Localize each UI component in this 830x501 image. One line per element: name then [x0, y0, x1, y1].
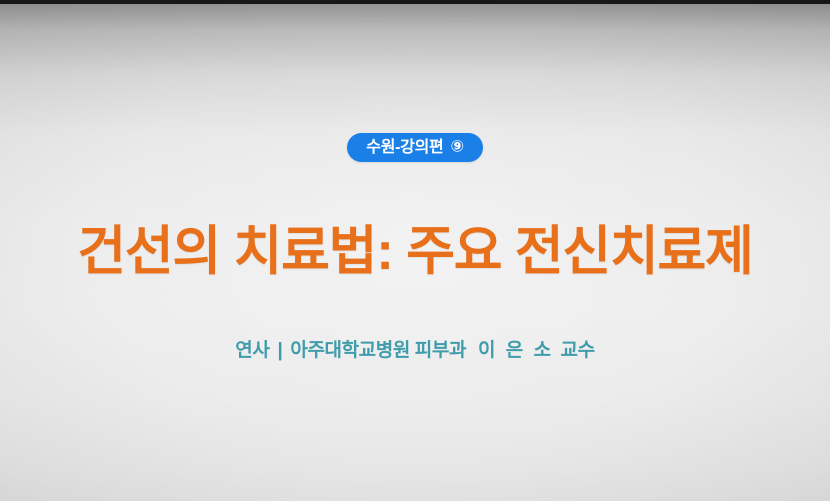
- speaker-role-label: 연사: [235, 341, 269, 360]
- speaker-name: 이 은 소: [473, 341, 554, 360]
- series-badge-label: 수원-강의편: [366, 140, 443, 156]
- series-badge: 수원-강의편 ⑨: [347, 133, 482, 162]
- speaker-affiliation: 아주대학교병원 피부과: [290, 341, 466, 360]
- video-title-slide: 수원-강의편 ⑨ 건선의 치료법: 주요 전신치료제 연사 | 아주대학교병원 …: [0, 0, 830, 501]
- slide-content: 수원-강의편 ⑨ 건선의 치료법: 주요 전신치료제 연사 | 아주대학교병원 …: [0, 0, 830, 501]
- speaker-rank: 교수: [561, 341, 595, 360]
- speaker-credit-line: 연사 | 아주대학교병원 피부과 이 은 소 교수: [235, 341, 594, 360]
- series-badge-number: ⑨: [450, 139, 463, 155]
- speaker-separator: |: [276, 341, 283, 360]
- lecture-title: 건선의 치료법: 주요 전신치료제: [77, 225, 752, 278]
